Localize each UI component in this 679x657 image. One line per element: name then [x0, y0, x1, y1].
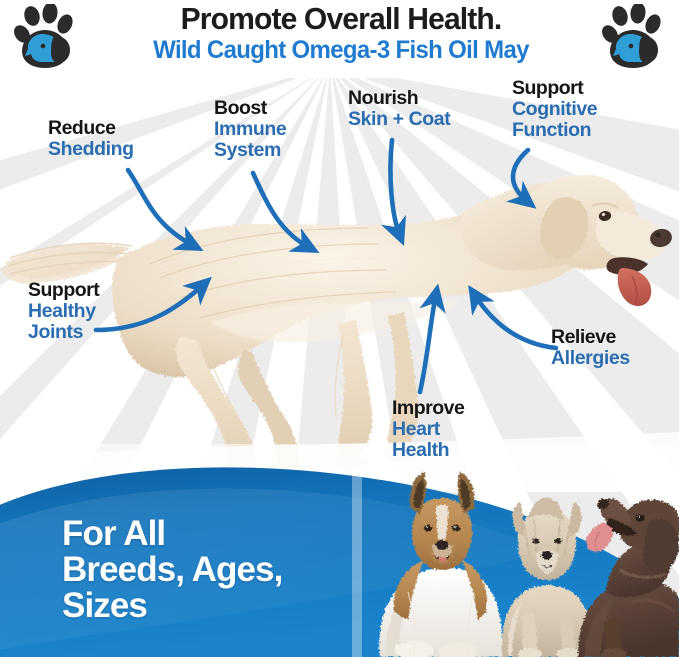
banner-text: For All Breeds, Ages, Sizes [62, 516, 282, 624]
benefit-line-2: Cognitive [512, 99, 597, 120]
benefit-line-2: Skin + Coat [348, 109, 450, 130]
three-dogs-photo [352, 462, 679, 657]
benefit-line-2: Allergies [551, 348, 630, 369]
benefit-line-2: Shedding [48, 139, 134, 160]
benefit-line-2: Heart [392, 419, 464, 440]
benefit-line-1: Nourish [348, 88, 450, 109]
benefit-label-nourish-skin-coat: Nourish Skin + Coat [348, 88, 450, 130]
banner-line-3: Sizes [62, 588, 282, 624]
benefit-line-1: Boost [214, 98, 286, 119]
benefit-label-support-joints: Support Healthy Joints [28, 280, 99, 343]
benefit-line-2: Healthy [28, 301, 99, 322]
benefit-label-boost-immune: Boost Immune System [214, 98, 286, 161]
benefit-line-1: Support [28, 280, 99, 301]
header: Promote Overall Health. Wild Caught Omeg… [0, 0, 679, 78]
paw-print-dog-logo-left [12, 4, 78, 70]
benefit-line-1: Relieve [551, 327, 630, 348]
benefit-line-1: Support [512, 78, 597, 99]
benefit-line-2: Immune [214, 119, 286, 140]
benefit-label-improve-heart: Improve Heart Health [392, 398, 464, 461]
page-title: Promote Overall Health. [103, 2, 578, 36]
benefit-line-1: Reduce [48, 118, 134, 139]
benefit-line-3: Health [392, 440, 464, 461]
banner-line-1: For All [62, 516, 282, 552]
benefit-label-reduce-shedding: Reduce Shedding [48, 118, 134, 160]
benefit-line-3: System [214, 140, 286, 161]
header-titles: Promote Overall Health. Wild Caught Omeg… [96, 2, 586, 65]
paw-print-dog-logo-right [600, 4, 666, 70]
benefit-line-1: Improve [392, 398, 464, 419]
benefit-label-relieve-allergies: Relieve Allergies [551, 327, 630, 369]
benefit-line-3: Function [512, 120, 597, 141]
page-subtitle: Wild Caught Omega-3 Fish Oil May [106, 36, 576, 65]
benefit-line-3: Joints [28, 322, 99, 343]
banner-line-2: Breeds, Ages, [62, 552, 282, 588]
infographic-poster: Promote Overall Health. Wild Caught Omeg… [0, 0, 679, 657]
benefit-label-support-cognitive: Support Cognitive Function [512, 78, 597, 141]
